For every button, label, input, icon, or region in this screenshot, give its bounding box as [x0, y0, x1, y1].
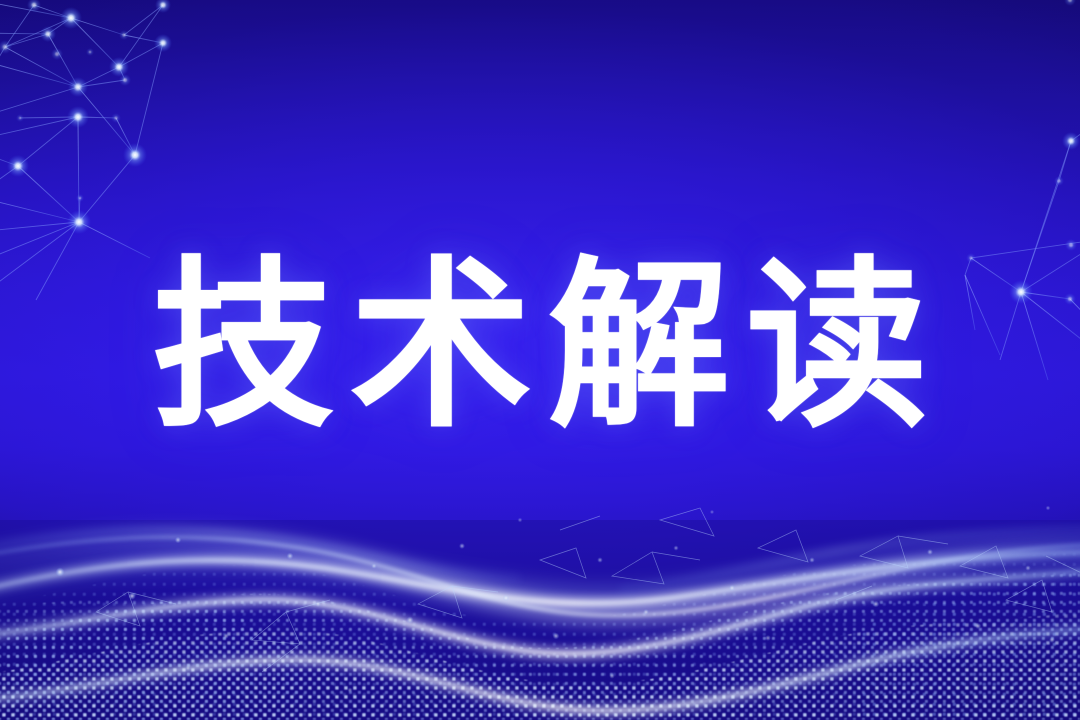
speck-wireframe-group — [96, 508, 1080, 672]
speck-point-group — [56, 506, 1056, 709]
floating-light-specks — [0, 0, 1080, 720]
tech-interpretation-banner: 技术解读 — [0, 0, 1080, 720]
